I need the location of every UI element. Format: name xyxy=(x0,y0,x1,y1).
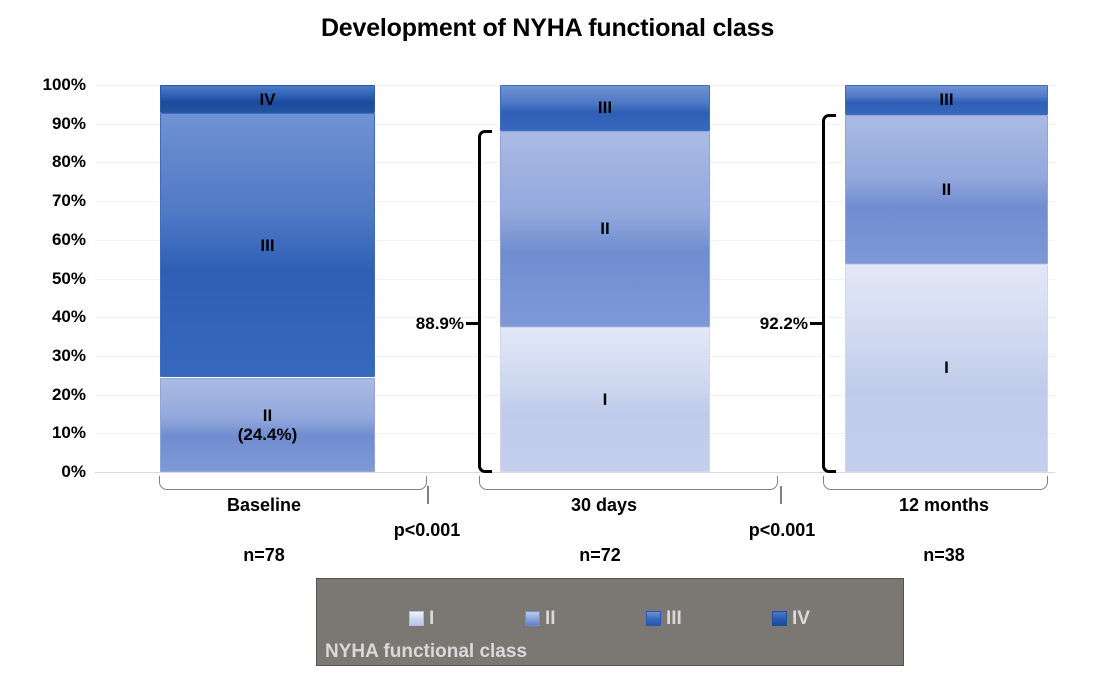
segment-label: II xyxy=(942,180,951,199)
chart-title: Development of NYHA functional class xyxy=(0,14,1095,43)
bar-segment-30days-I[interactable]: I xyxy=(500,327,710,472)
bar-segment-12months-III[interactable]: III xyxy=(845,85,1048,115)
plot-area: IV III II (24.4%) III II I xyxy=(95,85,1055,472)
category-bracket-12months xyxy=(823,476,1048,490)
bracket-nub-92-2 xyxy=(810,322,822,325)
y-axis: 100% 90% 80% 70% 60% 50% 40% 30% 20% 10%… xyxy=(0,85,86,472)
segment-sublabel: (24.4%) xyxy=(238,425,298,444)
y-tick-label-10: 10% xyxy=(0,423,86,443)
y-tick-label-80: 80% xyxy=(0,152,86,172)
category-label-12months: 12 months xyxy=(899,495,989,516)
legend-label-III: III xyxy=(666,609,682,628)
bracket-label-92-2-percent: 92.2% xyxy=(742,314,808,334)
segment-label: I xyxy=(603,390,608,409)
bracket-88-9-percent xyxy=(478,130,492,473)
p-value-label-1: p<0.001 xyxy=(394,520,461,541)
y-tick-label-40: 40% xyxy=(0,307,86,327)
y-tick-label-100: 100% xyxy=(0,75,86,95)
segment-label: III xyxy=(598,98,612,117)
bar-segment-baseline-IV[interactable]: IV xyxy=(160,85,375,113)
bar-baseline[interactable]: IV III II (24.4%) xyxy=(160,85,375,472)
p-value-label-2: p<0.001 xyxy=(749,520,816,541)
bar-segment-baseline-II[interactable]: II (24.4%) xyxy=(160,378,375,473)
legend-label-II: II xyxy=(545,609,556,628)
bar-30-days[interactable]: III II I xyxy=(500,85,710,472)
legend-swatch-icon-IV xyxy=(772,611,787,626)
legend-swatch-icon-I xyxy=(409,611,424,626)
category-bracket-30days xyxy=(479,476,778,490)
p-value-tick-2 xyxy=(780,486,782,504)
p-value-tick-1 xyxy=(427,486,429,504)
legend-swatch-icon-III xyxy=(646,611,661,626)
category-label-30days: 30 days xyxy=(571,495,637,516)
bracket-92-2-percent xyxy=(822,114,836,473)
legend-item-III[interactable]: III xyxy=(646,609,682,628)
bracket-label-88-9-percent: 88.9% xyxy=(398,314,464,334)
n-label-12months: n=38 xyxy=(923,545,965,566)
bar-segment-12months-II[interactable]: II xyxy=(845,115,1048,264)
legend-item-IV[interactable]: IV xyxy=(772,609,810,628)
bracket-nub-88-9 xyxy=(466,322,478,325)
legend-label-IV: IV xyxy=(792,609,810,628)
bar-12-months[interactable]: III II I xyxy=(845,85,1048,472)
y-tick-label-90: 90% xyxy=(0,114,86,134)
bar-segment-12months-I[interactable]: I xyxy=(845,264,1048,472)
n-label-30days: n=72 xyxy=(579,545,621,566)
segment-label: IV xyxy=(259,90,275,109)
segment-label: III xyxy=(260,236,274,255)
legend-item-II[interactable]: II xyxy=(525,609,556,628)
bar-segment-30days-III[interactable]: III xyxy=(500,85,710,131)
legend-swatch-icon-II xyxy=(525,611,540,626)
legend-title: NYHA functional class xyxy=(325,641,527,663)
y-tick-label-0: 0% xyxy=(0,462,86,482)
y-tick-label-20: 20% xyxy=(0,385,86,405)
chart-container: Development of NYHA functional class 100… xyxy=(0,0,1095,675)
bar-segment-30days-II[interactable]: II xyxy=(500,131,710,327)
y-tick-label-50: 50% xyxy=(0,269,86,289)
legend-label-I: I xyxy=(429,609,434,628)
segment-label: III xyxy=(939,90,953,109)
bar-segment-baseline-III[interactable]: III xyxy=(160,113,375,377)
segment-label: I xyxy=(944,358,949,377)
y-tick-label-70: 70% xyxy=(0,191,86,211)
y-tick-label-60: 60% xyxy=(0,230,86,250)
segment-label: II xyxy=(263,406,272,425)
category-bracket-baseline xyxy=(159,476,427,490)
y-tick-label-30: 30% xyxy=(0,346,86,366)
n-label-baseline: n=78 xyxy=(243,545,285,566)
segment-label: II xyxy=(600,219,609,238)
legend-item-I[interactable]: I xyxy=(409,609,434,628)
legend: I II III IV NYHA functional class xyxy=(316,578,904,666)
category-label-baseline: Baseline xyxy=(227,495,301,516)
